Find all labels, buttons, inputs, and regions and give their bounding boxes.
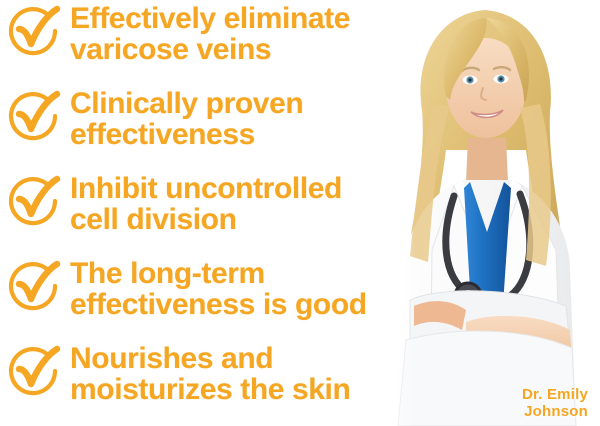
benefit-item: Effectively eliminate varicose veins (0, 0, 470, 85)
neck (466, 138, 508, 182)
benefit-item: Inhibit uncontrolled cell division (0, 170, 470, 255)
doctor-name-caption: Dr. Emily Johnson (522, 386, 588, 420)
benefit-label: Clinically proven effectiveness (70, 85, 303, 150)
check-circle-icon (4, 4, 62, 62)
benefit-label: Nourishes and moisturizes the skin (70, 340, 350, 405)
benefit-label: The long-term effectiveness is good (70, 255, 367, 320)
benefit-label: Effectively eliminate varicose veins (70, 0, 350, 65)
check-circle-icon (4, 89, 62, 147)
benefits-list: Effectively eliminate varicose veins Cli… (0, 0, 470, 425)
benefits-banner: Effectively eliminate varicose veins Cli… (0, 0, 600, 426)
benefit-item: Nourishes and moisturizes the skin (0, 340, 470, 425)
benefit-item: Clinically proven effectiveness (0, 85, 470, 170)
benefit-label: Inhibit uncontrolled cell division (70, 170, 342, 235)
check-circle-icon (4, 344, 62, 402)
benefit-item: The long-term effectiveness is good (0, 255, 470, 340)
check-circle-icon (4, 174, 62, 232)
check-circle-icon (4, 259, 62, 317)
